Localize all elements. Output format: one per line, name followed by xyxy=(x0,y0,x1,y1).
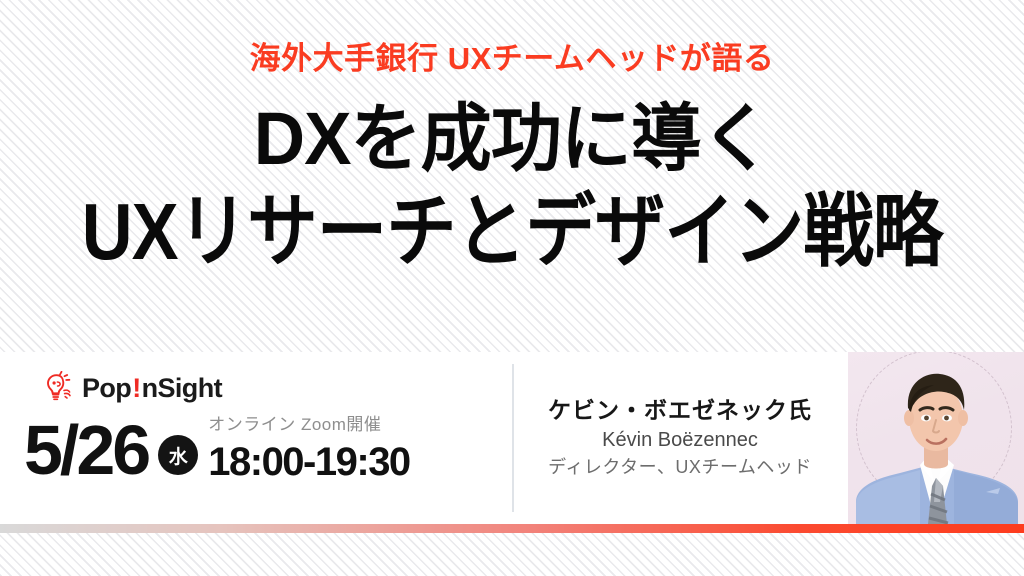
hero-title-line-1: DXを成功に導く xyxy=(253,102,770,176)
logo-text-post: nSight xyxy=(142,375,222,402)
speaker-block: ケビン・ボエゼネック氏 Kévin Boëzennec ディレクター、UXチーム… xyxy=(512,352,848,524)
event-details-block: Pop!nSight 5/26 水 オンライン Zoom開催 18:00-19:… xyxy=(0,352,500,524)
logo-text-pre: Pop xyxy=(82,375,131,402)
hero-title-line-2: UXリサーチとデザイン戦略 xyxy=(82,192,943,272)
speaker-portrait xyxy=(848,352,1024,524)
event-date: 5/26 xyxy=(24,417,148,484)
webinar-poster: 海外大手銀行 UXチームヘッドが語る DXを成功に導く UXリサーチとデザイン戦… xyxy=(0,0,1024,576)
hero-section: 海外大手銀行 UXチームヘッドが語る DXを成功に導く UXリサーチとデザイン戦… xyxy=(0,0,1024,352)
event-time: 18:00-19:30 xyxy=(208,442,409,482)
hero-kicker: 海外大手銀行 UXチームヘッドが語る xyxy=(250,43,775,74)
online-label: オンライン Zoom開催 xyxy=(208,416,409,433)
speaker-role: ディレクター、UXチームヘッド xyxy=(548,456,812,479)
lightbulb-icon xyxy=(42,371,76,405)
logo-exclamation: ! xyxy=(131,375,141,402)
event-time-column: オンライン Zoom開催 18:00-19:30 xyxy=(208,416,409,482)
speaker-name-en: Kévin Boëzennec xyxy=(602,428,758,453)
speaker-name-jp: ケビン・ボエゼネック氏 xyxy=(548,397,812,425)
brand-logo: Pop!nSight xyxy=(42,371,222,405)
footer-striped-area xyxy=(0,533,1024,576)
bottom-accent-bar xyxy=(0,524,1024,533)
portrait-illustration xyxy=(848,352,1024,524)
event-datetime-row: 5/26 水 オンライン Zoom開催 18:00-19:30 xyxy=(24,416,410,484)
brand-logo-wordmark: Pop!nSight xyxy=(82,375,222,402)
weekday-badge: 水 xyxy=(158,435,198,475)
